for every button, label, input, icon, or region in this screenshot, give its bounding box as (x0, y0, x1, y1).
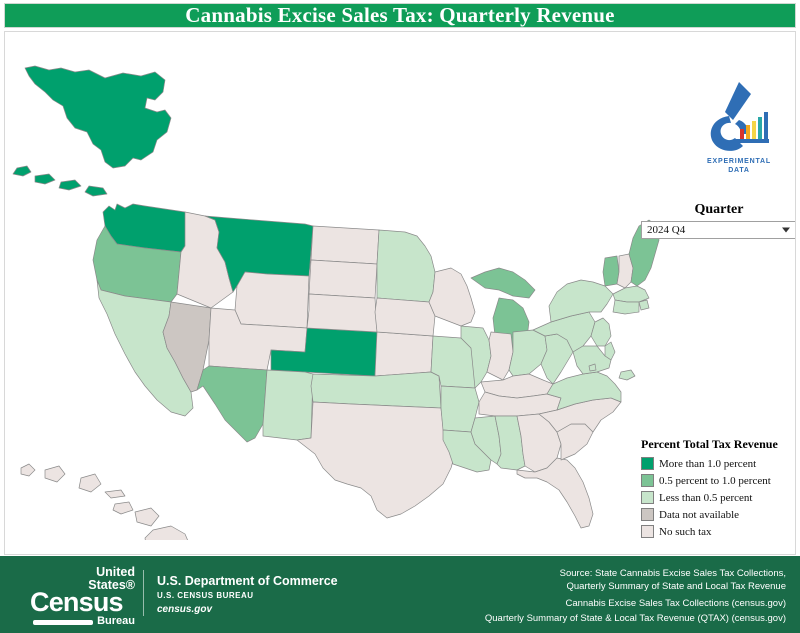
chevron-down-icon[interactable] (782, 228, 790, 233)
state-CT[interactable] (613, 300, 639, 314)
us-choropleth-map[interactable] (5, 40, 665, 540)
footer-department-name: U.S. Department of Commerce (157, 574, 338, 590)
page-footer: United States® Census Bureau U.S. Depart… (0, 556, 800, 633)
us-map-svg (5, 40, 665, 540)
state-WI[interactable] (429, 268, 475, 326)
state-shapes (13, 66, 659, 540)
legend-swatch-na (641, 508, 654, 521)
legend-label-low: Less than 0.5 percent (659, 492, 752, 504)
state-FL[interactable] (517, 458, 593, 528)
state-TX[interactable] (297, 402, 455, 518)
footer-source-block: Source: State Cannabis Excise Sales Tax … (366, 568, 786, 627)
footer-bureau-name: U.S. CENSUS BUREAU (157, 590, 338, 603)
legend-swatch-high (641, 457, 654, 470)
quarter-label: Quarter (641, 202, 796, 218)
quarter-selected-value: 2024 Q4 (642, 224, 685, 236)
logo-bureau: Bureau (97, 616, 135, 627)
state-ND[interactable] (311, 226, 379, 264)
source-link-cannabis[interactable]: Cannabis Excise Sales Tax Collections (c… (366, 597, 786, 612)
map-legend: Percent Total Tax Revenue More than 1.0 … (641, 437, 796, 541)
legend-item[interactable]: Less than 0.5 percent (641, 490, 796, 505)
footer-divider (143, 570, 144, 616)
state-MN[interactable] (377, 230, 435, 302)
state-RI[interactable] (639, 300, 649, 310)
legend-label-none: No such tax (659, 526, 712, 538)
microscope-bar-chart-icon (699, 76, 779, 156)
legend-label-na: Data not available (659, 509, 739, 521)
legend-label-mid: 0.5 percent to 1.0 percent (659, 475, 771, 487)
quarter-dropdown[interactable]: 2024 Q4 (641, 221, 796, 239)
legend-title: Percent Total Tax Revenue (641, 437, 796, 452)
logo-underline-bar (33, 620, 93, 625)
experimental-label-line2: DATA (691, 167, 787, 176)
census-bureau-logo: United States® Census Bureau (30, 566, 135, 627)
state-SC[interactable] (557, 424, 593, 460)
quarter-control: Quarter 2024 Q4 (641, 202, 796, 239)
state-AK[interactable] (25, 66, 171, 168)
state-NE[interactable] (307, 294, 377, 332)
state-HI[interactable] (21, 464, 191, 540)
page-title: Cannabis Excise Sales Tax: Quarterly Rev… (185, 3, 614, 28)
legend-item[interactable]: Data not available (641, 507, 796, 522)
state-OH[interactable] (509, 330, 547, 376)
experimental-data-logo: EXPERIMENTAL DATA (691, 76, 787, 186)
logo-census: Census (30, 590, 135, 615)
footer-website[interactable]: census.gov (157, 602, 338, 617)
map-panel: EXPERIMENTAL DATA Quarter 2024 Q4 Percen… (4, 31, 796, 555)
legend-item[interactable]: No such tax (641, 524, 796, 539)
source-line-1: Source: State Cannabis Excise Sales Tax … (366, 568, 786, 581)
source-line-2: Quarterly Summary of State and Local Tax… (366, 581, 786, 594)
state-MA[interactable] (613, 286, 649, 302)
title-banner: Cannabis Excise Sales Tax: Quarterly Rev… (4, 3, 796, 28)
state-IA[interactable] (375, 298, 435, 336)
state-KS[interactable] (375, 332, 433, 376)
state-SD[interactable] (309, 260, 377, 298)
state-AK-aleutians[interactable] (13, 166, 107, 196)
state-AZ[interactable] (197, 366, 267, 442)
legend-swatch-none (641, 525, 654, 538)
experimental-label-line1: EXPERIMENTAL (691, 158, 787, 167)
footer-department-block: U.S. Department of Commerce U.S. CENSUS … (157, 574, 338, 617)
state-IN[interactable] (487, 332, 513, 380)
source-link-qtax[interactable]: Quarterly Summary of State & Local Tax R… (366, 612, 786, 627)
map-cape-detail (619, 370, 635, 380)
legend-swatch-mid (641, 474, 654, 487)
legend-label-high: More than 1.0 percent (659, 458, 756, 470)
state-WY[interactable] (235, 272, 309, 328)
state-NM[interactable] (263, 370, 313, 440)
state-VT[interactable] (603, 256, 619, 286)
legend-item[interactable]: 0.5 percent to 1.0 percent (641, 473, 796, 488)
cannabis-excise-tax-map-app: Cannabis Excise Sales Tax: Quarterly Rev… (0, 0, 800, 633)
legend-item[interactable]: More than 1.0 percent (641, 456, 796, 471)
legend-swatch-low (641, 491, 654, 504)
